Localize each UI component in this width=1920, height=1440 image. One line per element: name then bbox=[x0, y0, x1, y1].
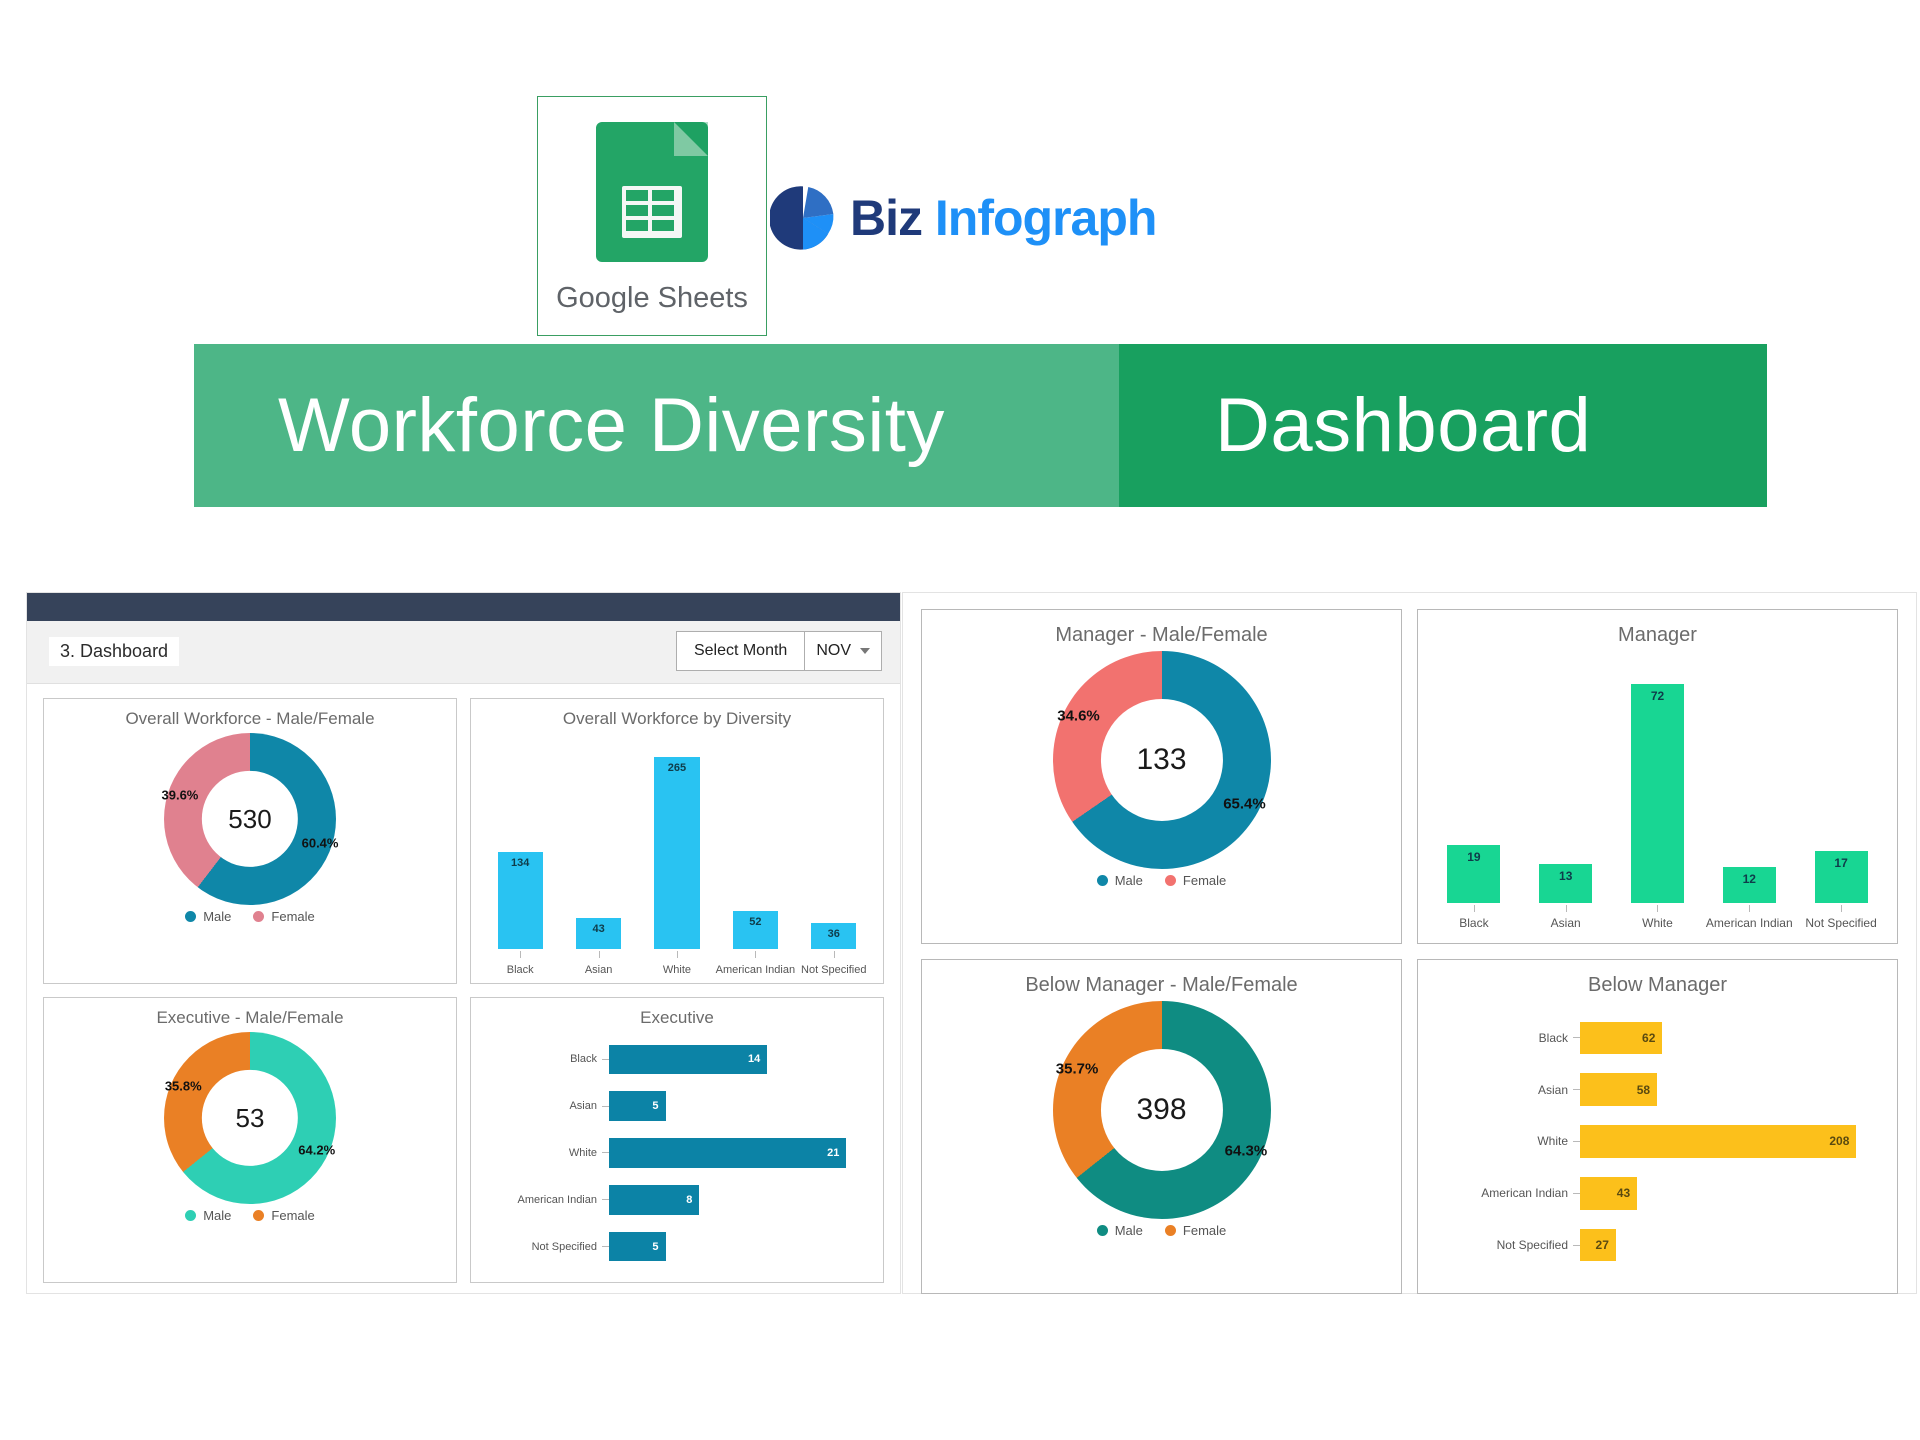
bar: 36 bbox=[811, 923, 856, 949]
bar-value-label: 52 bbox=[733, 916, 778, 928]
axis-tick bbox=[1573, 1089, 1580, 1090]
legend-dot-male bbox=[1097, 875, 1108, 886]
legend-dot-male bbox=[185, 911, 196, 922]
bar-row: White208 bbox=[1426, 1119, 1883, 1163]
month-value: NOV bbox=[816, 642, 851, 660]
category-label: American Indian bbox=[479, 1194, 602, 1206]
legend-dot-female bbox=[1165, 875, 1176, 886]
bar: 14 bbox=[609, 1045, 767, 1074]
vertical-bar-chart: 134Black43Asian265White52American Indian… bbox=[481, 739, 873, 949]
axis-tick bbox=[1573, 1141, 1580, 1142]
tab-dashboard[interactable]: 3. Dashboard bbox=[49, 637, 179, 666]
axis-tick bbox=[834, 951, 835, 958]
axis-tick bbox=[677, 951, 678, 958]
axis-tick bbox=[1841, 905, 1842, 912]
legend-dot-male bbox=[185, 1210, 196, 1221]
axis-tick bbox=[602, 1199, 609, 1200]
bar-column: 12American Indian bbox=[1708, 660, 1791, 903]
google-sheets-icon bbox=[596, 122, 708, 262]
legend-dot-female bbox=[253, 911, 264, 922]
chart-title: Overall Workforce - Male/Female bbox=[44, 699, 456, 729]
category-label: Asian bbox=[479, 1100, 602, 1112]
donut-percent-label: 35.8% bbox=[165, 1079, 202, 1094]
chart-legend: Male Female bbox=[44, 909, 456, 924]
category-label: Black bbox=[1426, 1031, 1573, 1045]
bar-value-label: 14 bbox=[748, 1053, 767, 1065]
bar: 265 bbox=[654, 757, 699, 949]
card-executive: Executive Black14Asian5White21American I… bbox=[470, 997, 884, 1283]
axis-tick bbox=[1657, 905, 1658, 912]
vertical-bar-chart: 19Black13Asian72White12American Indian17… bbox=[1428, 660, 1887, 903]
bar: 43 bbox=[1580, 1177, 1637, 1210]
google-sheets-label: Google Sheets bbox=[538, 282, 766, 315]
donut-ring: 5364.2%35.8% bbox=[164, 1032, 336, 1204]
bar-row: Not Specified5 bbox=[479, 1227, 869, 1267]
bar-column: 265White bbox=[642, 739, 713, 949]
bar-column: 36Not Specified bbox=[798, 739, 869, 949]
horizontal-bar-chart: Black14Asian5White21American Indian8Not … bbox=[479, 1036, 869, 1270]
legend-item-female: Female bbox=[253, 909, 314, 924]
bar-value-label: 13 bbox=[1539, 869, 1592, 883]
bar-value-label: 72 bbox=[1631, 689, 1684, 703]
dashboard-toolbar: 3. Dashboard Select Month NOV bbox=[27, 621, 900, 684]
bar-column: 13Asian bbox=[1524, 660, 1607, 903]
right-charts-grid: Manager - Male/Female 13365.4%34.6% Male… bbox=[903, 593, 1916, 1310]
bar-value-label: 43 bbox=[1617, 1186, 1637, 1200]
donut-percent-label: 39.6% bbox=[162, 788, 199, 803]
bar-row: Black14 bbox=[479, 1040, 869, 1080]
card-overall-workforce-by-diversity: Overall Workforce by Diversity 134Black4… bbox=[470, 698, 884, 984]
donut-percent-label: 35.7% bbox=[1056, 1061, 1099, 1078]
category-label: Black bbox=[479, 1053, 602, 1065]
legend-label-female: Female bbox=[1183, 873, 1226, 888]
category-label: American Indian bbox=[1426, 1186, 1573, 1200]
category-label: Not Specified bbox=[778, 964, 889, 976]
google-sheets-word-google: Google bbox=[556, 282, 650, 314]
right-dashboard-panel: Manager - Male/Female 13365.4%34.6% Male… bbox=[903, 593, 1916, 1293]
bar: 13 bbox=[1539, 864, 1592, 903]
donut-percent-label: 34.6% bbox=[1057, 708, 1100, 725]
bar-value-label: 208 bbox=[1829, 1134, 1856, 1148]
legend-dot-female bbox=[1165, 1225, 1176, 1236]
bar-value-label: 58 bbox=[1637, 1083, 1657, 1097]
bar-value-label: 5 bbox=[652, 1100, 665, 1112]
category-label: Asian bbox=[1426, 1083, 1573, 1097]
page-title: Workforce Diversity bbox=[194, 382, 945, 469]
axis-tick bbox=[1573, 1037, 1580, 1038]
card-below-manager-male-female: Below Manager - Male/Female 39864.3%35.7… bbox=[921, 959, 1402, 1294]
bar-value-label: 19 bbox=[1447, 850, 1500, 864]
donut-center-value: 398 bbox=[1136, 1093, 1186, 1127]
category-label: Not Specified bbox=[1780, 916, 1903, 930]
donut-percent-label: 64.2% bbox=[298, 1142, 335, 1157]
axis-tick bbox=[1566, 905, 1567, 912]
horizontal-bar-chart: Black62Asian58White208American Indian43N… bbox=[1426, 1012, 1883, 1271]
donut-ring: 53060.4%39.6% bbox=[164, 733, 336, 905]
legend-item-male: Male bbox=[1097, 873, 1143, 888]
chart-title: Executive - Male/Female bbox=[44, 998, 456, 1028]
bar-value-label: 17 bbox=[1815, 856, 1868, 870]
pie-chart-icon bbox=[770, 185, 836, 251]
legend-label-male: Male bbox=[1115, 873, 1143, 888]
bar: 8 bbox=[609, 1185, 699, 1214]
bar: 134 bbox=[498, 852, 543, 949]
donut-center: 133 bbox=[1100, 699, 1222, 821]
select-month-button[interactable]: Select Month bbox=[677, 632, 804, 670]
chart-title: Overall Workforce by Diversity bbox=[471, 699, 883, 729]
donut-center-value: 530 bbox=[228, 804, 271, 835]
bar: 52 bbox=[733, 911, 778, 949]
bar-row: Not Specified27 bbox=[1426, 1223, 1883, 1267]
chart-legend: Male Female bbox=[922, 1223, 1401, 1238]
bar-row: Asian5 bbox=[479, 1086, 869, 1126]
chart-title: Below Manager bbox=[1418, 960, 1897, 997]
chevron-down-icon bbox=[860, 648, 870, 654]
legend-item-female: Female bbox=[1165, 1223, 1226, 1238]
chart-title: Manager - Male/Female bbox=[922, 610, 1401, 647]
donut-percent-label: 60.4% bbox=[302, 835, 339, 850]
bar-column: 134Black bbox=[485, 739, 556, 949]
card-manager-male-female: Manager - Male/Female 13365.4%34.6% Male… bbox=[921, 609, 1402, 944]
legend-item-male: Male bbox=[185, 1208, 231, 1223]
bar-column: 72White bbox=[1616, 660, 1699, 903]
bar: 17 bbox=[1815, 851, 1868, 903]
page-subtitle: Dashboard bbox=[1119, 382, 1591, 469]
bar-row: Asian58 bbox=[1426, 1068, 1883, 1112]
left-charts-grid: Overall Workforce - Male/Female 53060.4%… bbox=[27, 684, 900, 1297]
axis-tick bbox=[1573, 1245, 1580, 1246]
category-label: Not Specified bbox=[479, 1241, 602, 1253]
card-below-manager: Below Manager Black62Asian58White208Amer… bbox=[1417, 959, 1898, 1294]
donut-center-value: 53 bbox=[236, 1103, 265, 1134]
bar-value-label: 5 bbox=[652, 1241, 665, 1253]
axis-tick bbox=[602, 1152, 609, 1153]
axis-tick bbox=[599, 951, 600, 958]
bar: 72 bbox=[1631, 684, 1684, 903]
bar-column: 43Asian bbox=[563, 739, 634, 949]
bar: 62 bbox=[1580, 1022, 1662, 1055]
bar: 27 bbox=[1580, 1229, 1616, 1262]
donut-percent-label: 64.3% bbox=[1225, 1142, 1268, 1159]
card-executive-male-female: Executive - Male/Female 5364.2%35.8% Mal… bbox=[43, 997, 457, 1283]
bar: 58 bbox=[1580, 1073, 1657, 1106]
legend-item-female: Female bbox=[1165, 873, 1226, 888]
card-overall-workforce-male-female: Overall Workforce - Male/Female 53060.4%… bbox=[43, 698, 457, 984]
axis-tick bbox=[1573, 1193, 1580, 1194]
bar: 208 bbox=[1580, 1125, 1856, 1158]
axis-tick bbox=[602, 1246, 609, 1247]
bar-row: White21 bbox=[479, 1133, 869, 1173]
infograph-word: Infograph bbox=[935, 190, 1157, 246]
chart-title: Below Manager - Male/Female bbox=[922, 960, 1401, 997]
month-selector[interactable]: Select Month NOV bbox=[676, 631, 882, 671]
legend-item-male: Male bbox=[185, 909, 231, 924]
title-banner: Workforce Diversity Dashboard bbox=[194, 344, 1767, 507]
donut-ring: 39864.3%35.7% bbox=[1053, 1001, 1271, 1219]
bar-value-label: 134 bbox=[498, 857, 543, 869]
donut-center-value: 133 bbox=[1136, 743, 1186, 777]
legend-dot-female bbox=[253, 1210, 264, 1221]
axis-tick bbox=[1474, 905, 1475, 912]
card-manager: Manager 19Black13Asian72White12American … bbox=[1417, 609, 1898, 944]
axis-tick bbox=[1749, 905, 1750, 912]
month-dropdown[interactable]: NOV bbox=[805, 632, 881, 670]
chart-title: Manager bbox=[1418, 610, 1897, 647]
bar-value-label: 36 bbox=[811, 928, 856, 940]
bar-value-label: 8 bbox=[686, 1194, 699, 1206]
bar-value-label: 27 bbox=[1596, 1238, 1616, 1252]
category-label: Not Specified bbox=[1426, 1238, 1573, 1252]
banner-left: Workforce Diversity bbox=[194, 344, 1119, 507]
legend-item-female: Female bbox=[253, 1208, 314, 1223]
bar: 43 bbox=[576, 918, 621, 949]
banner-right: Dashboard bbox=[1119, 344, 1767, 507]
bar-value-label: 265 bbox=[654, 762, 699, 774]
bar: 21 bbox=[609, 1138, 846, 1167]
donut-center: 530 bbox=[202, 771, 298, 867]
bar-value-label: 12 bbox=[1723, 872, 1776, 886]
biz-infograph-logo: Biz Infograph bbox=[770, 185, 1156, 251]
bar-row: American Indian43 bbox=[1426, 1171, 1883, 1215]
legend-label-male: Male bbox=[203, 1208, 231, 1223]
legend-label-female: Female bbox=[271, 1208, 314, 1223]
bar-column: 52American Indian bbox=[720, 739, 791, 949]
legend-label-female: Female bbox=[271, 909, 314, 924]
chart-legend: Male Female bbox=[922, 873, 1401, 888]
google-sheets-logo-box: Google Sheets bbox=[537, 96, 767, 336]
bar: 19 bbox=[1447, 845, 1500, 903]
bar-row: Black62 bbox=[1426, 1016, 1883, 1060]
bar-column: 17Not Specified bbox=[1800, 660, 1883, 903]
donut-percent-label: 65.4% bbox=[1223, 795, 1266, 812]
left-dashboard-panel: 3. Dashboard Select Month NOV Overall Wo… bbox=[27, 593, 900, 1293]
donut-center: 53 bbox=[202, 1070, 298, 1166]
bar-row: American Indian8 bbox=[479, 1180, 869, 1220]
axis-tick bbox=[602, 1059, 609, 1060]
chart-legend: Male Female bbox=[44, 1208, 456, 1223]
category-label: White bbox=[1426, 1134, 1573, 1148]
bar-column: 19Black bbox=[1433, 660, 1516, 903]
chart-title: Executive bbox=[471, 998, 883, 1028]
axis-tick bbox=[602, 1106, 609, 1107]
window-topbar bbox=[27, 593, 900, 621]
legend-label-female: Female bbox=[1183, 1223, 1226, 1238]
google-sheets-word-sheets: Sheets bbox=[658, 282, 748, 314]
legend-item-male: Male bbox=[1097, 1223, 1143, 1238]
bar-value-label: 62 bbox=[1642, 1031, 1662, 1045]
donut-ring: 13365.4%34.6% bbox=[1053, 651, 1271, 869]
bar-value-label: 43 bbox=[576, 923, 621, 935]
legend-label-male: Male bbox=[1115, 1223, 1143, 1238]
legend-dot-male bbox=[1097, 1225, 1108, 1236]
category-label: White bbox=[479, 1147, 602, 1159]
bar: 5 bbox=[609, 1091, 666, 1120]
donut-center: 398 bbox=[1100, 1049, 1222, 1171]
axis-tick bbox=[520, 951, 521, 958]
bar: 12 bbox=[1723, 867, 1776, 903]
bar: 5 bbox=[609, 1232, 666, 1261]
biz-word: Biz bbox=[850, 190, 922, 246]
branding-row: Google Sheets Biz Infograph bbox=[0, 0, 1920, 340]
legend-label-male: Male bbox=[203, 909, 231, 924]
axis-tick bbox=[755, 951, 756, 958]
bar-value-label: 21 bbox=[827, 1147, 846, 1159]
